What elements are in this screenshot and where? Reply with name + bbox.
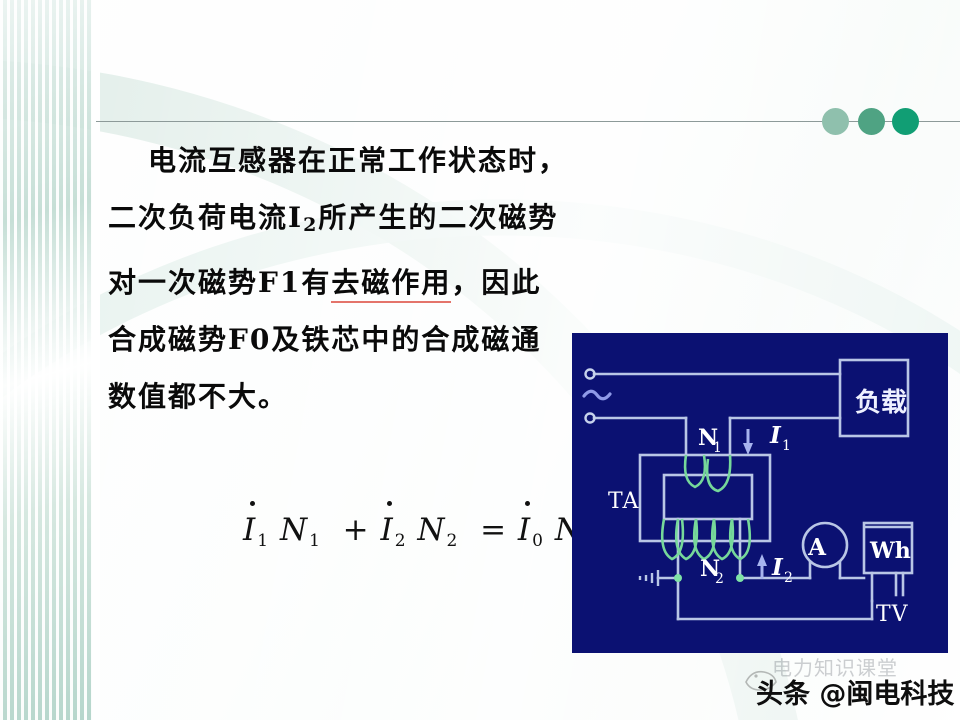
primary-current-sub: 1: [782, 438, 791, 454]
secondary-current-sub: 2: [784, 570, 793, 586]
stripe-band-gap: [92, 0, 100, 720]
formula-term-2-symbol: I: [380, 512, 393, 548]
body-line-3-pre: 对一次磁势F1有: [108, 266, 331, 299]
formula-operator-equals: =: [480, 512, 507, 548]
primary-current-arrow-icon: [743, 429, 753, 455]
ac-source-icon: [584, 391, 610, 399]
voltage-transformer-label: TV: [876, 602, 909, 627]
formula-term-2-times-sub: 2: [446, 531, 459, 551]
slide-canvas: 电流互感器在正常工作状态时， 二次负荷电流I2所产生的二次磁势 对一次磁势F1有…: [0, 0, 960, 720]
body-line-3: 对一次磁势F1有去磁作用，因此: [108, 254, 588, 311]
ac-source-label: ~: [584, 402, 585, 404]
formula-term-2-sub: 2: [394, 531, 407, 551]
formula-term-3-sub: 0: [531, 531, 544, 551]
body-line-4: 合成磁势F0及铁芯中的合成磁通: [108, 311, 588, 368]
junction-secondary: [736, 574, 744, 582]
body-line-2: 二次负荷电流I2所产生的二次磁势: [108, 189, 588, 254]
junction-ground: [674, 574, 682, 582]
formula-term-3-symbol: I: [518, 512, 531, 548]
magnetomotive-force-equation: I1 N1 + I2 N2 = I0 N1: [243, 512, 596, 551]
accent-dots-group: [822, 108, 922, 138]
secondary-winding-sub: 2: [715, 571, 724, 587]
body-line-3-underlined-phrase: 去磁作用: [331, 266, 451, 303]
formula-term-1-times-sub: 1: [308, 531, 321, 551]
ammeter-label: A: [807, 534, 827, 561]
stripe-band-mask: [0, 0, 92, 720]
ground-icon: [640, 570, 658, 586]
body-line-2-post: 所产生的二次磁势: [318, 201, 558, 234]
secondary-winding-coil: [662, 519, 750, 559]
formula-operator-plus: +: [343, 512, 370, 548]
primary-current-label: I: [769, 422, 782, 449]
accent-dot-mid-icon: [858, 108, 885, 135]
current-arrows: [743, 429, 767, 579]
body-line-1: 电流互感器在正常工作状态时，: [108, 132, 588, 189]
load-label: 负载: [855, 388, 907, 418]
formula-term-1-times: N: [280, 512, 308, 548]
body-line-2-pre: 二次负荷电流I: [108, 201, 303, 234]
formula-term-1-sub: 1: [256, 531, 269, 551]
circuit-diagram-panel: ~: [572, 333, 948, 653]
circuit-diagram-svg: ~: [572, 333, 948, 653]
accent-dot-dark-icon: [892, 108, 919, 135]
watt-hour-meter-label: Wh: [869, 538, 911, 564]
accent-dot-light-icon: [822, 108, 849, 135]
supply-terminals: [586, 370, 595, 423]
formula-term-1-symbol: I: [243, 512, 256, 548]
body-paragraph: 电流互感器在正常工作状态时， 二次负荷电流I2所产生的二次磁势 对一次磁势F1有…: [108, 132, 588, 425]
secondary-current-label: I: [771, 554, 784, 581]
primary-winding-coil: [685, 455, 730, 491]
transformer-label: TA: [608, 489, 639, 514]
secondary-current-arrow-icon: [757, 554, 767, 579]
formula-term-2-times: N: [417, 512, 445, 548]
body-line-5: 数值都不大。: [108, 368, 588, 425]
body-line-3-post: ，因此: [451, 266, 541, 299]
body-line-2-subscript: 2: [303, 214, 318, 236]
primary-winding-sub: 1: [713, 440, 722, 456]
watermark-main-text: 头条 @闽电科技: [756, 672, 954, 711]
